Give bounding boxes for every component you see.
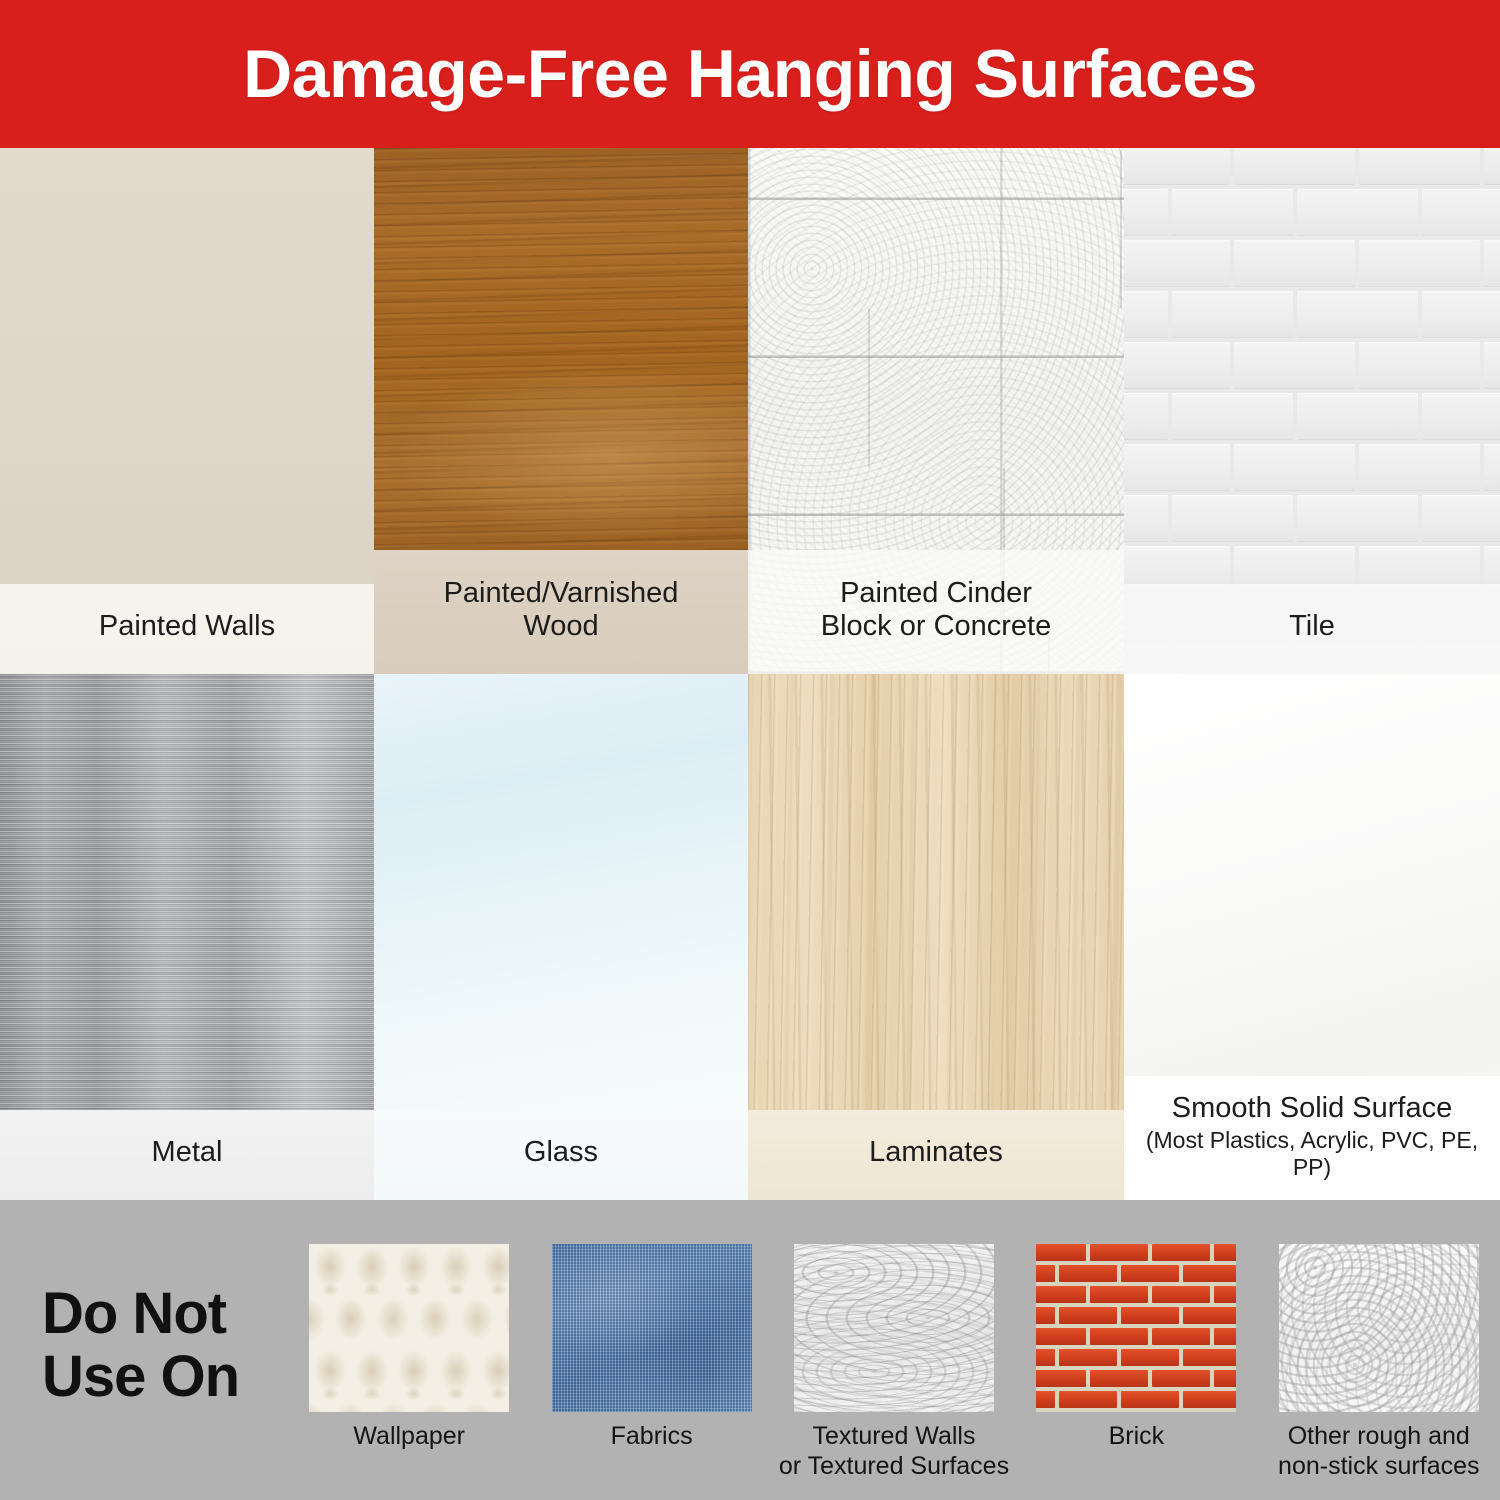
surface-label-glass: Glass [374, 1110, 748, 1200]
do-not-use-item-textured-walls: Textured Walls or Textured Surfaces [773, 1240, 1015, 1490]
brick [1036, 1244, 1086, 1261]
brick [1059, 1349, 1117, 1366]
tile [1359, 148, 1480, 185]
brick [1036, 1370, 1086, 1387]
brick [1152, 1370, 1210, 1387]
surface-cell-solid-surface: Smooth Solid Surface (Most Plastics, Acr… [1124, 674, 1500, 1200]
do-not-use-item-brick: Brick [1015, 1240, 1257, 1490]
brick [1036, 1307, 1055, 1324]
brick-row [1036, 1286, 1236, 1307]
do-not-use-heading-line1: Do Not [42, 1283, 292, 1346]
brick [1214, 1286, 1236, 1303]
brick-row [1036, 1349, 1236, 1370]
surface-cell-painted-walls: Painted Walls [0, 148, 374, 674]
brick-rows [1036, 1244, 1236, 1412]
tile [1124, 291, 1168, 338]
brick [1183, 1349, 1236, 1366]
brick-row [1036, 1265, 1236, 1286]
brick-row [1036, 1370, 1236, 1391]
brick [1036, 1349, 1055, 1366]
tile [1124, 342, 1230, 389]
brick [1121, 1265, 1179, 1282]
brick [1090, 1244, 1148, 1261]
tile [1359, 342, 1480, 389]
do-not-use-item-fabrics: Fabrics [530, 1240, 772, 1490]
solid-surface-label-main: Smooth Solid Surface [1172, 1092, 1452, 1125]
surface-cell-cinder-block: Painted Cinder Block or Concrete [748, 148, 1124, 674]
brick [1121, 1307, 1179, 1324]
brick [1036, 1328, 1086, 1345]
do-not-use-item-wallpaper: Wallpaper [288, 1240, 530, 1490]
tile [1234, 342, 1355, 389]
brick [1036, 1265, 1055, 1282]
brick [1121, 1391, 1179, 1408]
do-not-use-heading: Do Not Use On [42, 1283, 292, 1408]
surface-label-tile: Tile [1124, 584, 1500, 674]
tile [1124, 393, 1168, 440]
infographic-page: Damage-Free Hanging Surfaces Painted Wal… [0, 0, 1500, 1500]
do-not-use-label-fabrics: Fabrics [611, 1422, 693, 1452]
tile [1124, 148, 1230, 185]
tile-row [1124, 495, 1500, 546]
brick [1090, 1328, 1148, 1345]
tile [1422, 495, 1500, 542]
tile [1234, 240, 1355, 287]
tile [1422, 189, 1500, 236]
tile [1234, 444, 1355, 491]
surface-label-painted-walls: Painted Walls [0, 584, 374, 674]
brick [1183, 1265, 1236, 1282]
approved-surfaces-grid: Painted Walls Painted/Varnished Wood Pai… [0, 148, 1500, 1200]
surface-label-varnished-wood: Painted/Varnished Wood [374, 550, 748, 674]
do-not-use-label-wallpaper: Wallpaper [353, 1422, 465, 1452]
surface-cell-metal: Metal [0, 674, 374, 1200]
do-not-use-heading-line2: Use On [42, 1346, 292, 1409]
tile [1124, 444, 1230, 491]
tile [1297, 189, 1418, 236]
tile [1124, 495, 1168, 542]
popcorn-rough-texture [1279, 1244, 1479, 1412]
tile [1422, 393, 1500, 440]
surface-label-laminates: Laminates [748, 1110, 1124, 1200]
brick [1059, 1391, 1117, 1408]
tile [1234, 148, 1355, 185]
tile-row [1124, 189, 1500, 240]
brick-texture [1036, 1244, 1236, 1412]
tile [1297, 495, 1418, 542]
brick-row [1036, 1328, 1236, 1349]
brick [1183, 1307, 1236, 1324]
tile-row [1124, 342, 1500, 393]
surface-cell-laminates: Laminates [748, 674, 1124, 1200]
brick-row [1036, 1391, 1236, 1412]
do-not-use-item-rough: Other rough and non-stick surfaces [1258, 1240, 1500, 1490]
surface-label-cinder-block: Painted Cinder Block or Concrete [748, 550, 1124, 674]
brick [1214, 1370, 1236, 1387]
tile [1297, 393, 1418, 440]
tile [1172, 495, 1293, 542]
brick [1152, 1328, 1210, 1345]
brick [1036, 1286, 1086, 1303]
tile [1172, 189, 1293, 236]
tile [1124, 240, 1230, 287]
tile [1124, 189, 1168, 236]
do-not-use-items: Wallpaper Fabrics Textured Walls or Text… [288, 1240, 1500, 1490]
tile [1297, 291, 1418, 338]
surface-cell-varnished-wood: Painted/Varnished Wood [374, 148, 748, 674]
tile-row [1124, 148, 1500, 189]
do-not-use-label-brick: Brick [1109, 1422, 1165, 1452]
brick [1090, 1370, 1148, 1387]
solid-surface-label-sub: (Most Plastics, Acrylic, PVC, PE, PP) [1128, 1127, 1496, 1179]
surface-label-solid-surface: Smooth Solid Surface (Most Plastics, Acr… [1124, 1076, 1500, 1200]
wallpaper-texture [309, 1244, 509, 1412]
tile [1484, 342, 1500, 389]
surface-cell-glass: Glass [374, 674, 748, 1200]
tile-row [1124, 291, 1500, 342]
brick [1036, 1391, 1055, 1408]
page-title: Damage-Free Hanging Surfaces [243, 35, 1257, 113]
brick [1183, 1391, 1236, 1408]
tile-row [1124, 444, 1500, 495]
do-not-use-label-textured-walls: Textured Walls or Textured Surfaces [779, 1422, 1009, 1481]
brick [1214, 1244, 1236, 1261]
surface-cell-tile: Tile [1124, 148, 1500, 674]
surface-label-metal: Metal [0, 1110, 374, 1200]
brick [1059, 1307, 1117, 1324]
tile [1484, 148, 1500, 185]
tile [1359, 444, 1480, 491]
brick [1214, 1328, 1236, 1345]
brick-row [1036, 1307, 1236, 1328]
brick [1152, 1286, 1210, 1303]
tile [1422, 291, 1500, 338]
brick [1121, 1349, 1179, 1366]
tile-row [1124, 393, 1500, 444]
tile [1172, 291, 1293, 338]
tile-row [1124, 240, 1500, 291]
brick [1059, 1265, 1117, 1282]
tile [1172, 393, 1293, 440]
brick-row [1036, 1244, 1236, 1265]
tile [1484, 444, 1500, 491]
textured-wall-texture [794, 1244, 994, 1412]
tile [1359, 240, 1480, 287]
denim-fabric-texture [552, 1244, 752, 1412]
do-not-use-label-rough: Other rough and non-stick surfaces [1278, 1422, 1479, 1481]
brick [1152, 1244, 1210, 1261]
tile [1484, 240, 1500, 287]
brick [1090, 1286, 1148, 1303]
header-banner: Damage-Free Hanging Surfaces [0, 0, 1500, 148]
